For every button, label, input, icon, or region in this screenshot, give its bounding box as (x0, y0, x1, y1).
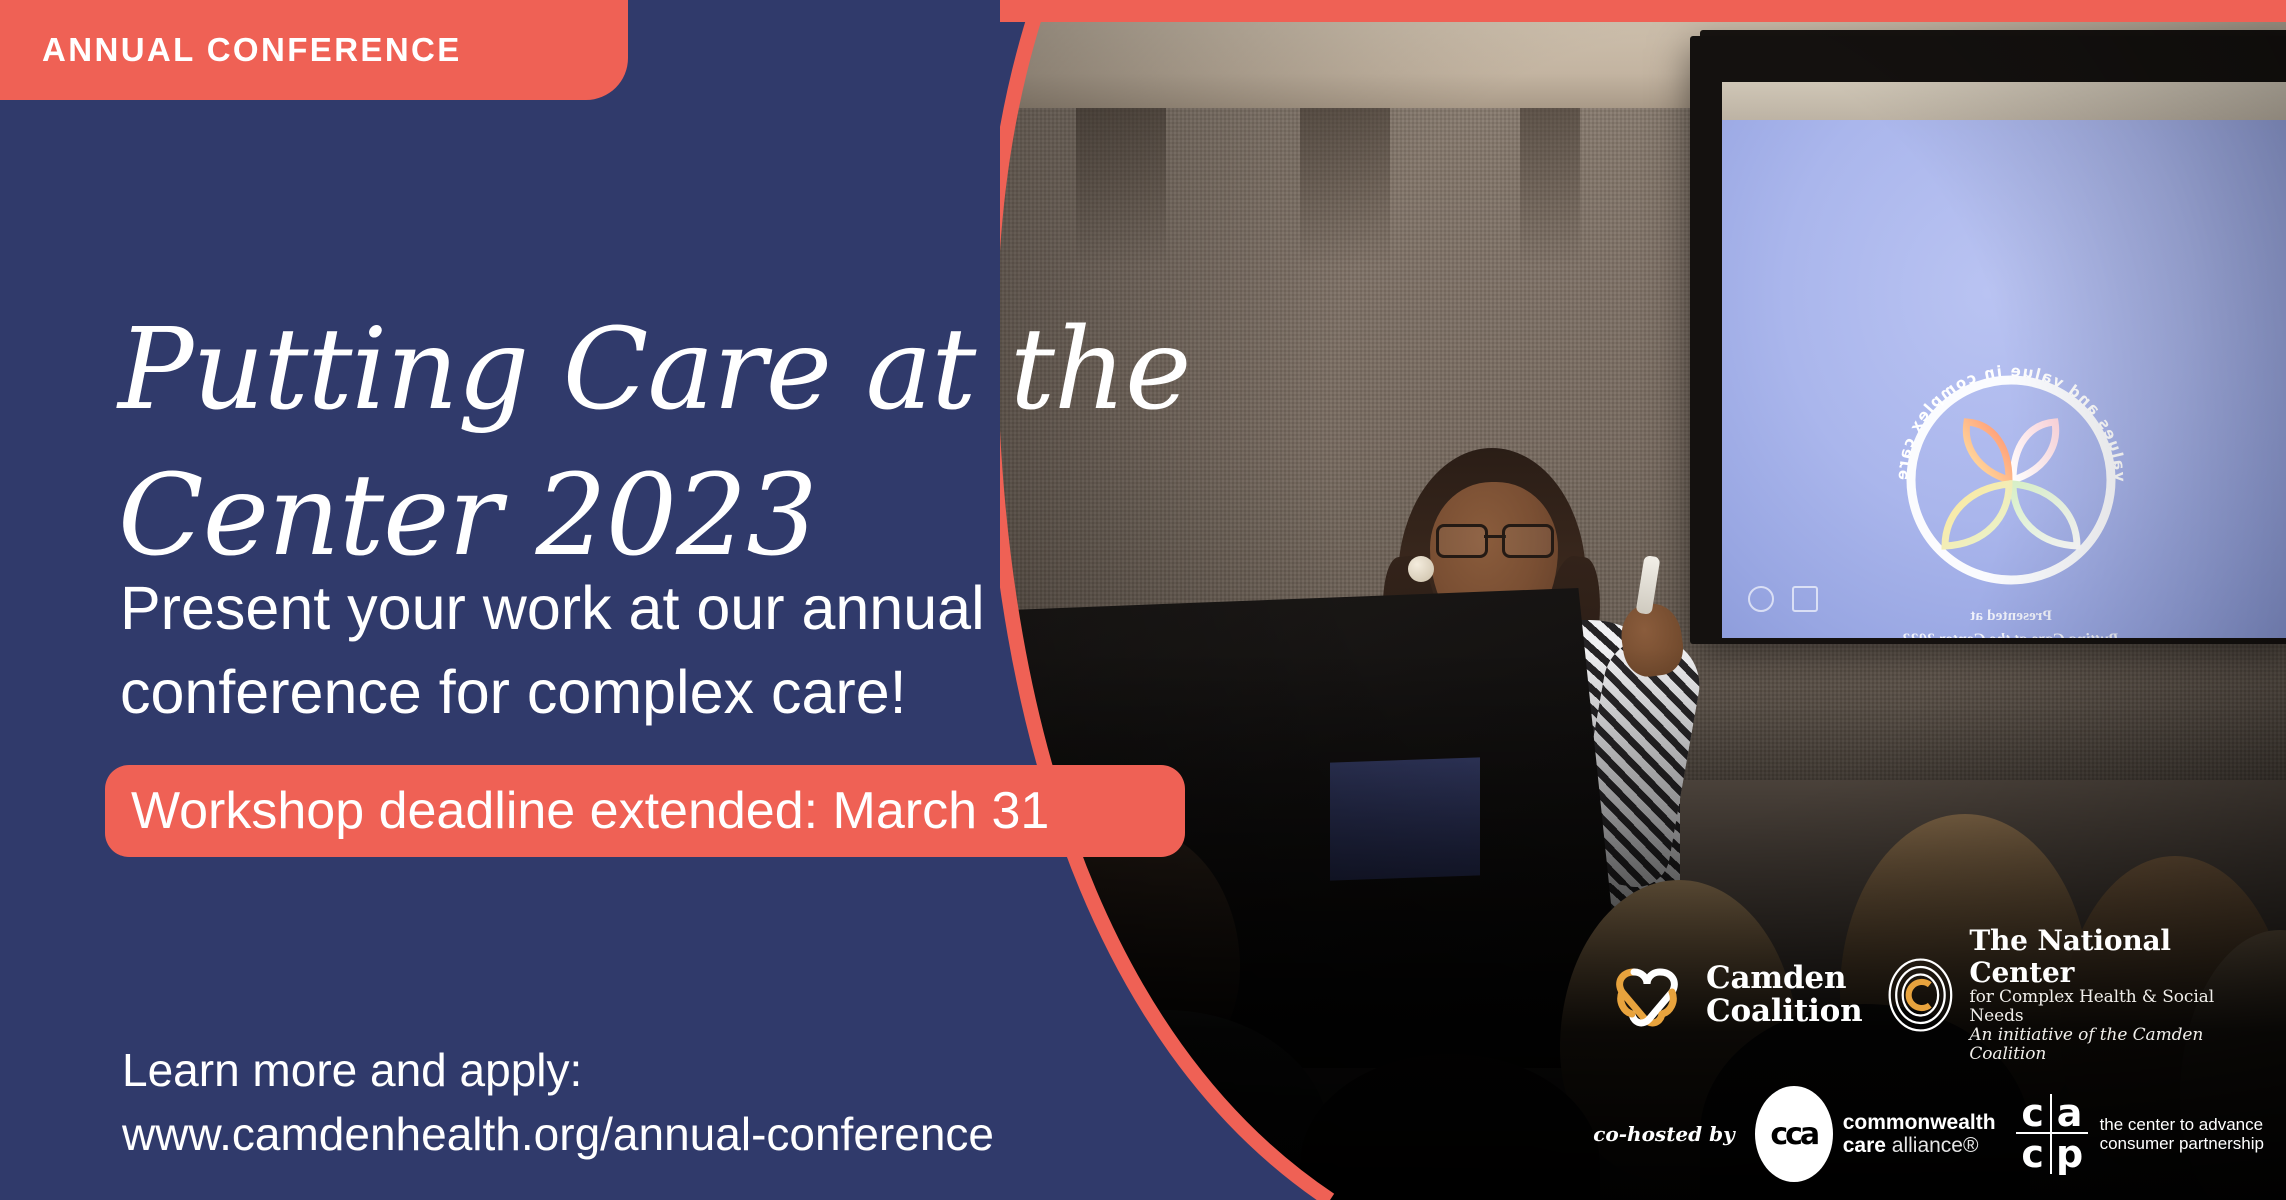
commonwealth-care-alliance-logo: cca commonwealth care alliance® (1755, 1086, 1996, 1182)
national-center-concentric-c-icon (1885, 954, 1956, 1036)
annual-conference-badge: ANNUAL CONFERENCE (0, 0, 628, 100)
cta-url[interactable]: www.camdenhealth.org/annual-conference (122, 1102, 994, 1166)
national-center-wordmark: The National Center for Complex Health &… (1969, 925, 2264, 1064)
cacp-letter-c2: c (2016, 1134, 2052, 1174)
cacp-wordmark: the center to advance consumer partnersh… (2100, 1115, 2264, 1153)
camden-line-1: Camden (1706, 962, 1863, 995)
cacp-letter-a1: a (2052, 1094, 2088, 1134)
cacp-line-1: the center to advance (2100, 1115, 2264, 1134)
cohosted-by-label: co-hosted by (1593, 1122, 1734, 1146)
camden-coalition-logo: Camden Coalition (1604, 952, 1863, 1038)
cacp-line-2: consumer partnership (2100, 1134, 2264, 1153)
annual-conference-label: ANNUAL CONFERENCE (0, 31, 462, 69)
cca-line-1: commonwealth (1843, 1111, 1996, 1134)
cca-line-2-bold: care (1843, 1134, 1892, 1157)
cacp-mark-icon: c a c p (2016, 1094, 2088, 1174)
logo-lockup: Camden Coalition The National Center for… (1604, 925, 2264, 1182)
camden-line-2: Coalition (1706, 995, 1863, 1028)
conference-promo-banner: values and value in complex care Present… (0, 0, 2286, 1200)
cca-mark-text: cca (1770, 1117, 1817, 1152)
subheadline: Present your work at our annual conferen… (120, 566, 1180, 734)
cacp-letter-c1: c (2016, 1094, 2052, 1134)
national-center-line-3: An initiative of the Camden Coalition (1969, 1026, 2264, 1064)
deadline-text: Workshop deadline extended: March 31 (105, 785, 1049, 837)
deadline-badge: Workshop deadline extended: March 31 (105, 765, 1185, 857)
national-center-line-2: for Complex Health & Social Needs (1969, 988, 2264, 1026)
page-title: Putting Care at the Center 2023 (118, 297, 1218, 589)
logo-row-cohosts: co-hosted by cca commonwealth care allia… (1604, 1086, 2264, 1182)
subheadline-line-1: Present your work at our annual (120, 566, 1180, 650)
cacp-letter-p2: p (2052, 1134, 2088, 1174)
subheadline-line-2: conference for complex care! (120, 650, 1180, 734)
cca-wordmark: commonwealth care alliance® (1843, 1111, 1996, 1157)
logo-row-primary: Camden Coalition The National Center for… (1604, 925, 2264, 1064)
camden-heart-links-icon (1604, 952, 1690, 1038)
cacp-logo: c a c p the center to advance consumer p… (2016, 1094, 2264, 1174)
call-to-action: Learn more and apply: www.camdenhealth.o… (122, 1038, 994, 1166)
national-center-logo: The National Center for Complex Health &… (1885, 925, 2265, 1064)
photo-top-coral-bar (1000, 0, 2286, 22)
national-center-line-1: The National Center (1969, 925, 2264, 988)
camden-coalition-wordmark: Camden Coalition (1706, 962, 1863, 1028)
cca-mark-icon: cca (1755, 1086, 1833, 1182)
cta-label: Learn more and apply: (122, 1038, 994, 1102)
cca-line-2-light: alliance® (1892, 1134, 1979, 1157)
headline-line-1: Putting Care at the (118, 297, 1218, 443)
